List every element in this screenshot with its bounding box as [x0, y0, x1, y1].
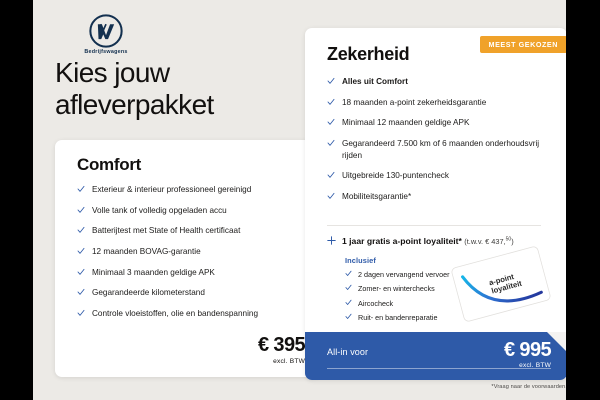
list-item: Volle tank of volledig opgeladen accu [77, 205, 299, 217]
zekerheid-feature-list: Alles uit Comfort 18 maanden a-point zek… [327, 76, 552, 211]
list-item: Gegarandeerd 7.500 km of 6 maanden onder… [327, 138, 552, 161]
list-item: Controle vloeistoffen, olie en bandenspa… [77, 308, 299, 320]
check-icon [327, 118, 335, 126]
footnote: *Vraag naar de voorwaarden. [305, 384, 566, 390]
list-item: Exterieur & interieur professioneel gere… [77, 184, 299, 196]
check-icon [345, 270, 352, 277]
list-item-label: Uitgebreide 130-puntencheck [342, 171, 449, 180]
list-item-label: 2 dagen vervangend vervoer [358, 270, 450, 279]
list-item: Minimaal 12 maanden geldige APK [327, 117, 552, 129]
list-item: Uitgebreide 130-puntencheck [327, 170, 552, 182]
check-icon [327, 77, 335, 85]
page-title: Kies jouw afleverpakket [55, 57, 315, 122]
brand-sublabel: Bedrijfswagens [66, 50, 146, 55]
list-item-label: Gegarandeerd 7.500 km of 6 maanden onder… [342, 139, 539, 160]
list-item-label: 12 maanden BOVAG-garantie [92, 247, 201, 256]
check-icon [327, 139, 335, 147]
check-icon [327, 98, 335, 106]
list-item: Batterijtest met State of Health certifi… [77, 225, 299, 237]
comfort-feature-list: Exterieur & interieur professioneel gere… [77, 184, 299, 328]
allin-label: All-in voor [327, 347, 368, 357]
comfort-title: Comfort [77, 155, 141, 175]
list-item-label: 18 maanden a-point zekerheidsgarantie [342, 98, 486, 107]
bonus-value: (t.w.v. € 437,50) [464, 237, 513, 246]
check-icon [77, 309, 85, 317]
list-item-label: Minimaal 12 maanden geldige APK [342, 118, 469, 127]
list-item: Minimaal 3 maanden geldige APK [77, 267, 299, 279]
list-item: Alles uit Comfort [327, 76, 552, 88]
check-icon [77, 268, 85, 276]
divider [327, 225, 541, 226]
package-card-comfort[interactable]: Comfort Exterieur & interieur profession… [55, 140, 321, 377]
screenshot-frame: Bedrijfswagens Kies jouw afleverpakket C… [0, 0, 600, 400]
allin-price: € 995 [504, 340, 551, 360]
list-item-label: Ruit- en bandenreparatie [358, 313, 438, 322]
allin-price-block: € 995 excl. BTW [504, 340, 551, 369]
list-item: 18 maanden a-point zekerheidsgarantie [327, 97, 552, 109]
list-item-label: Exterieur & interieur professioneel gere… [92, 185, 251, 194]
check-icon [77, 247, 85, 255]
zekerheid-title: Zekerheid [327, 44, 409, 65]
list-item-label: Mobiliteitsgarantie* [342, 192, 411, 201]
list-item-label: Minimaal 3 maanden geldige APK [92, 268, 215, 277]
comfort-price-block: € 395 excl. BTW [258, 335, 305, 365]
list-item-label: Zomer- en winterchecks [358, 284, 435, 293]
check-icon [77, 226, 85, 234]
list-item-label: Controle vloeistoffen, olie en bandenspa… [92, 309, 258, 318]
advertisement-stage: Bedrijfswagens Kies jouw afleverpakket C… [33, 0, 566, 400]
list-item-label: Gegarandeerde kilometerstand [92, 288, 205, 297]
list-item: Mobiliteitsgarantie* [327, 191, 552, 203]
price-underline [327, 368, 551, 369]
list-item-label: Aircocheck [358, 299, 393, 308]
check-icon [327, 171, 335, 179]
list-item-label: Volle tank of volledig opgeladen accu [92, 206, 227, 215]
comfort-price-note: excl. BTW [258, 358, 305, 365]
check-icon [77, 206, 85, 214]
list-item: Gegarandeerde kilometerstand [77, 287, 299, 299]
volkswagen-logo-icon [89, 14, 123, 48]
allin-price-bar: All-in voor € 995 excl. BTW [305, 332, 566, 380]
list-item: 12 maanden BOVAG-garantie [77, 246, 299, 258]
package-card-zekerheid[interactable]: MEEST GEKOZEN Zekerheid Alles uit Comfor… [305, 28, 566, 380]
comfort-price: € 395 [258, 335, 305, 355]
brand-block: Bedrijfswagens [66, 14, 146, 55]
list-item-label: Batterijtest met State of Health certifi… [92, 226, 240, 235]
check-icon [345, 313, 352, 320]
status-badge: MEEST GEKOZEN [480, 36, 566, 53]
bonus-label: 1 jaar gratis a-point loyaliteit* [342, 236, 462, 246]
check-icon [345, 299, 352, 306]
plus-icon [327, 236, 336, 245]
check-icon [77, 288, 85, 296]
check-icon [327, 192, 335, 200]
list-item-label: Alles uit Comfort [342, 77, 408, 86]
check-icon [77, 185, 85, 193]
check-icon [345, 284, 352, 291]
